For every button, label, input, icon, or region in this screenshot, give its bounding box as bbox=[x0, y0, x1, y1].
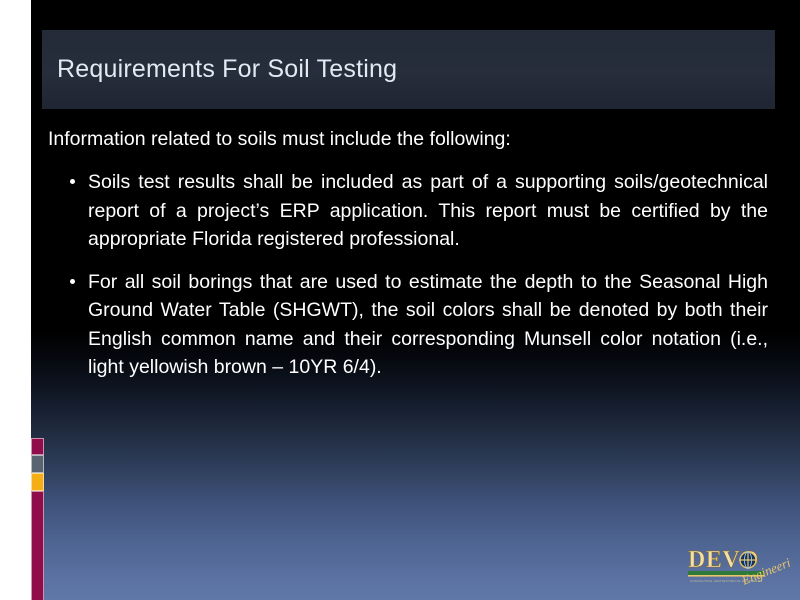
bullet-text: For all soil borings that are used to es… bbox=[88, 268, 768, 382]
swatch-magenta bbox=[31, 438, 44, 455]
devo-engineering-logo: DEVO CONSULTING GEOTECHNICAL ENGINEERS E… bbox=[686, 543, 790, 593]
sidebar: FES STORMWATER WORKSHOP 2010 www.devoeng… bbox=[0, 0, 31, 600]
swatch-magenta-long bbox=[31, 491, 44, 600]
list-item: For all soil borings that are used to es… bbox=[48, 268, 768, 382]
slide-content: Information related to soils must includ… bbox=[48, 126, 768, 382]
page-title: Requirements For Soil Testing bbox=[42, 55, 397, 84]
presentation-slide: FES STORMWATER WORKSHOP 2010 www.devoeng… bbox=[0, 0, 800, 600]
slide-title-bar: Requirements For Soil Testing bbox=[42, 30, 775, 109]
lead-paragraph: Information related to soils must includ… bbox=[48, 126, 768, 152]
bullet-dot-icon bbox=[70, 279, 75, 284]
bullet-list: Soils test results shall be included as … bbox=[48, 168, 768, 382]
swatch-gray bbox=[31, 455, 44, 473]
bullet-text: Soils test results shall be included as … bbox=[88, 168, 768, 254]
list-item: Soils test results shall be included as … bbox=[48, 168, 768, 254]
bullet-dot-icon bbox=[70, 179, 75, 184]
swatch-gold bbox=[31, 473, 44, 491]
